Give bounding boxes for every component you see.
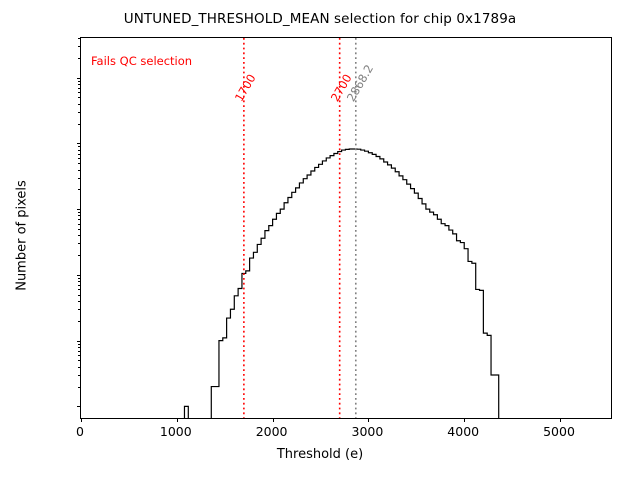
y-tick-minor (78, 112, 81, 113)
y-tick-minor (78, 150, 81, 151)
y-tick-minor (78, 81, 81, 82)
y-tick-minor (78, 351, 81, 352)
y-tick-minor (78, 235, 81, 236)
x-tick-label: 4000 (447, 424, 479, 439)
y-tick-minor (78, 387, 81, 388)
x-tick (177, 418, 178, 422)
y-tick-minor (78, 309, 81, 310)
y-tick-minor (78, 146, 81, 147)
x-tick-label: 0 (76, 424, 84, 439)
x-tick (368, 418, 369, 422)
x-tick (81, 418, 82, 422)
y-tick-minor (78, 189, 81, 190)
y-tick-minor (78, 355, 81, 356)
y-tick (77, 143, 82, 144)
y-tick-minor (78, 212, 81, 213)
y-tick (77, 275, 82, 276)
histogram-outline (184, 149, 502, 418)
y-tick-minor (78, 347, 81, 348)
x-tick (560, 418, 561, 422)
x-tick (273, 418, 274, 422)
y-tick-minor (78, 163, 81, 164)
x-axis-label: Threshold (e) (0, 447, 640, 462)
y-tick-minor (78, 255, 81, 256)
y-tick-minor (78, 321, 81, 322)
y-tick-minor (78, 224, 81, 225)
y-tick-minor (78, 170, 81, 171)
x-tick-label: 3000 (352, 424, 384, 439)
x-tick-label: 2000 (256, 424, 288, 439)
y-tick-minor (78, 278, 81, 279)
y-tick-minor (78, 84, 81, 85)
y-tick-minor (78, 229, 81, 230)
y-tick-minor (78, 104, 81, 105)
x-tick (464, 418, 465, 422)
y-tick-minor (78, 360, 81, 361)
y-tick-minor (78, 38, 81, 39)
y-tick-minor (78, 281, 81, 282)
y-tick-minor (78, 243, 81, 244)
y-tick-minor (78, 375, 81, 376)
y-tick (77, 209, 82, 210)
y-tick-minor (78, 58, 81, 59)
y-tick-minor (78, 285, 81, 286)
y-tick-minor (78, 301, 81, 302)
y-tick (77, 341, 82, 342)
y-tick-minor (78, 97, 81, 98)
y-tick-minor (78, 88, 81, 89)
y-tick (77, 78, 82, 79)
x-tick-label: 1000 (160, 424, 192, 439)
y-tick (77, 406, 82, 407)
y-tick-minor (78, 344, 81, 345)
qc-status-annotation: Fails QC selection (91, 54, 192, 68)
y-tick-minor (78, 219, 81, 220)
y-tick-minor (78, 289, 81, 290)
y-tick-minor (78, 158, 81, 159)
y-tick-minor (78, 295, 81, 296)
page-title: UNTUNED_THRESHOLD_MEAN selection for chi… (0, 11, 640, 27)
x-tick-label: 5000 (543, 424, 575, 439)
y-tick-minor (78, 215, 81, 216)
y-axis-label: Number of pixels (15, 116, 30, 356)
y-tick-minor (78, 178, 81, 179)
y-tick-minor (78, 154, 81, 155)
y-tick-minor (78, 367, 81, 368)
y-tick-minor (78, 124, 81, 125)
y-tick-minor (78, 92, 81, 93)
histogram-figure: UNTUNED_THRESHOLD_MEAN selection for chi… (0, 0, 640, 480)
y-tick-minor (78, 46, 81, 47)
